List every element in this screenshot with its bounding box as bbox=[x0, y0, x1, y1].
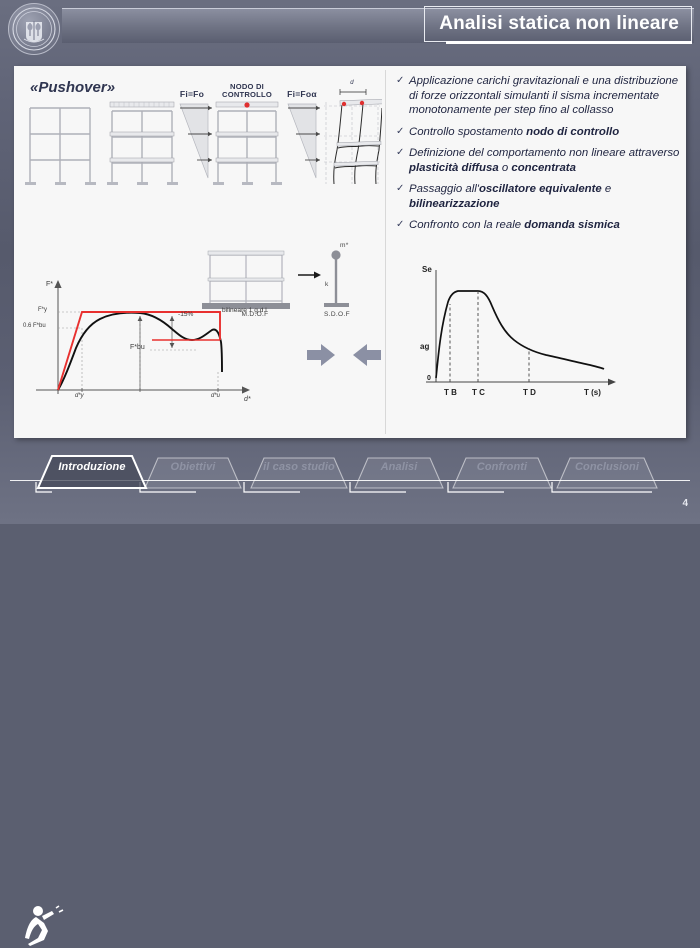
spectrum-xtick-tb: T B bbox=[444, 388, 457, 397]
panel-vertical-divider bbox=[385, 70, 386, 434]
load-triangle-1 bbox=[180, 104, 212, 178]
check-icon: ✓ bbox=[396, 218, 409, 233]
check-icon: ✓ bbox=[396, 182, 409, 211]
capacity-x-arrowhead bbox=[242, 386, 250, 393]
response-spectrum-chart: Se ag 0 T B T C T D T (s) bbox=[404, 260, 629, 420]
bidirectional-arrows bbox=[305, 340, 385, 374]
spectrum-xlabel-t: T (s) bbox=[584, 388, 601, 397]
label-stiffness-k: k bbox=[325, 281, 329, 288]
bullet-text-0: Applicazione carichi gravitazionali e un… bbox=[409, 74, 684, 118]
runner-icon bbox=[16, 904, 72, 948]
bullet-item-2: ✓ Definizione del comportamento non line… bbox=[396, 146, 684, 175]
capacity-curve-chart: F* d* F*y 0.6 F*bu d*y d*u F*bu -15% bil… bbox=[22, 272, 272, 420]
capacity-curve-svg bbox=[22, 272, 272, 420]
nav-tab-label: Conclusioni bbox=[557, 452, 657, 482]
spectrum-axes bbox=[426, 270, 612, 382]
bullet-item-3: ✓ Passaggio all'oscillatore equivalente … bbox=[396, 182, 684, 211]
frame-with-slabs bbox=[107, 102, 178, 185]
nav-tab-label: Confronti bbox=[453, 452, 551, 482]
nav-tab-label: Introduzione bbox=[38, 452, 146, 482]
label-fi-foalpha: Fi=Foα bbox=[278, 89, 326, 99]
capacity-y-arrowhead bbox=[54, 280, 61, 288]
capacity-legend-bilineare: bilineare 1 g.d.l bbox=[222, 307, 267, 314]
label-fi-fo: Fi=Fo bbox=[170, 89, 214, 99]
bullet-text-3: Passaggio all'oscillatore equivalente e … bbox=[409, 182, 684, 211]
nav-tab-introduzione[interactable]: Introduzione bbox=[38, 452, 146, 490]
spectrum-xtick-tc: T C bbox=[472, 388, 485, 397]
frame-bare bbox=[30, 108, 90, 182]
page-number: 4 bbox=[682, 498, 688, 509]
bullet-item-1: ✓ Controllo spostamento nodo di controll… bbox=[396, 125, 684, 140]
spectrum-ytick-ag: ag bbox=[420, 342, 429, 351]
spectrum-period-markers bbox=[450, 291, 529, 382]
label-sdof: S.D.O.F bbox=[310, 311, 364, 318]
bullet-text-4: Confronto con la reale domanda sismica bbox=[409, 218, 620, 233]
label-mass-mstar: m* bbox=[340, 242, 349, 249]
nav-tab-label: Analisi bbox=[355, 452, 443, 482]
title-underline bbox=[446, 41, 692, 44]
arrow-left-icon bbox=[353, 344, 381, 366]
slide-title-box: Analisi statica non lineare bbox=[424, 6, 692, 42]
bullet-list: ✓ Applicazione carichi gravitazionali e … bbox=[396, 74, 684, 240]
capacity-annotation-drop: -15% bbox=[178, 311, 193, 318]
nav-tab-il-caso-studio[interactable]: il caso studio bbox=[251, 452, 347, 490]
transition-arrow bbox=[298, 272, 321, 279]
nav-tab-confronti[interactable]: Confronti bbox=[453, 452, 551, 490]
bilinear-curve-line bbox=[58, 312, 220, 390]
capacity-xtick-dy: d*y bbox=[75, 393, 84, 399]
fbu-indicator bbox=[138, 316, 143, 390]
spectrum-x-arrowhead bbox=[608, 379, 616, 386]
spectrum-ytick-zero: 0 bbox=[427, 375, 431, 382]
page-title: Analisi statica non lineare bbox=[439, 13, 679, 35]
check-icon: ✓ bbox=[396, 146, 409, 175]
label-control-node-line2: CONTROLLO bbox=[214, 90, 280, 99]
bullet-item-4: ✓ Confronto con la reale domanda sismica bbox=[396, 218, 684, 233]
spectrum-ylabel-se: Se bbox=[422, 265, 432, 274]
capacity-ytick-fy: F*y bbox=[38, 307, 47, 313]
university-logo bbox=[8, 3, 60, 55]
slide-header: Analisi statica non lineare bbox=[0, 0, 700, 56]
check-icon: ✓ bbox=[396, 125, 409, 140]
bullet-text-1: Controllo spostamento nodo di controllo bbox=[409, 125, 619, 140]
nav-tab-analisi[interactable]: Analisi bbox=[355, 452, 443, 490]
check-icon: ✓ bbox=[396, 74, 409, 118]
bottom-navigation: Introduzione Obiettivi il caso studio An… bbox=[0, 452, 700, 502]
arrow-right-icon bbox=[307, 344, 335, 366]
frame-diagrams-svg bbox=[22, 86, 382, 194]
slide-root: Analisi statica non lineare «Pushover» bbox=[0, 0, 700, 524]
bullet-item-0: ✓ Applicazione carichi gravitazionali e … bbox=[396, 74, 684, 118]
control-node-marker bbox=[244, 102, 249, 107]
capacity-guides bbox=[58, 312, 218, 390]
nav-tab-obiettivi[interactable]: Obiettivi bbox=[145, 452, 241, 490]
load-triangle-2 bbox=[288, 104, 320, 178]
capacity-xtick-du: d*u bbox=[211, 393, 220, 399]
capacity-inner-label-fbu: F*bu bbox=[130, 344, 145, 351]
drop-indicator bbox=[170, 316, 175, 348]
frame-bare-supports bbox=[25, 182, 96, 185]
nav-tab-conclusioni[interactable]: Conclusioni bbox=[557, 452, 657, 490]
capacity-ytick-06fbu: 0.6 F*bu bbox=[23, 323, 46, 329]
capacity-ylabel: F* bbox=[46, 281, 53, 288]
bullet-text-2: Definizione del comportamento non linear… bbox=[409, 146, 684, 175]
spectrum-curve-line bbox=[436, 291, 604, 378]
frame-control-node bbox=[213, 102, 282, 185]
sdof-oscillator bbox=[324, 250, 349, 307]
nav-tab-label: Obiettivi bbox=[145, 452, 241, 482]
nav-tab-label: il caso studio bbox=[251, 452, 347, 482]
capacity-xlabel: d* bbox=[244, 396, 251, 403]
frame-deformed bbox=[324, 89, 382, 184]
spectrum-xtick-td: T D bbox=[523, 388, 536, 397]
label-displacement-d: d bbox=[344, 80, 360, 86]
frame-diagrams-group: Fi=Fo NODO DI CONTROLLO Fi=Foα d bbox=[22, 86, 382, 196]
